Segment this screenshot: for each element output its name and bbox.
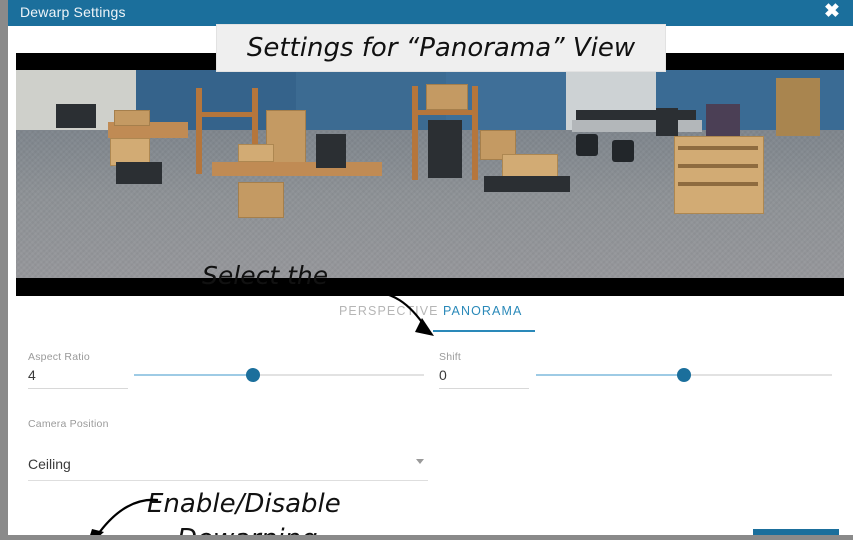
slider-fill [134, 374, 253, 376]
aspect-ratio-input[interactable] [28, 367, 128, 389]
save-button[interactable]: SAVE [753, 529, 839, 535]
window-titlebar: Dewarp Settings ✖ [8, 0, 853, 26]
page-title: Dewarp Settings [20, 4, 126, 20]
scene-wall [296, 70, 446, 132]
camera-position-value: Ceiling [28, 456, 71, 472]
scene-object [196, 88, 202, 174]
scene-object [776, 78, 820, 136]
shift-label: Shift [439, 351, 461, 363]
close-icon[interactable]: ✖ [821, 1, 843, 23]
callout-arrow-to-enable [80, 496, 160, 535]
slider-thumb[interactable] [246, 368, 260, 382]
aspect-ratio-label: Aspect Ratio [28, 351, 90, 363]
scene-object [678, 146, 758, 150]
scene-object [572, 120, 702, 132]
window-content: Select the “Panorama” Tab PERSPECTIVE PA… [8, 26, 853, 535]
tab-panorama[interactable]: PANORAMA [443, 304, 522, 328]
scene-object [576, 134, 598, 156]
camera-position-label: Camera Position [28, 418, 109, 430]
scene-object [238, 182, 284, 218]
scene-object [196, 112, 258, 117]
scene-object [116, 162, 162, 184]
slider-thumb[interactable] [677, 368, 691, 382]
scene-object [612, 140, 634, 162]
scene-object [412, 86, 418, 180]
shift-input[interactable] [439, 367, 529, 389]
camera-position-select[interactable]: Ceiling [28, 456, 428, 481]
callout-enable-line1: Enable/Disable [147, 489, 341, 519]
aspect-ratio-slider[interactable] [134, 366, 424, 384]
video-letterbox-bottom [16, 278, 844, 296]
panorama-video-preview[interactable]: Select the “Panorama” Tab [16, 53, 844, 296]
scene-object [678, 182, 758, 186]
view-mode-tabs: PERSPECTIVE PANORAMA [8, 304, 853, 344]
chevron-down-icon [416, 459, 424, 464]
cancel-button[interactable]: CANCEL [659, 533, 740, 535]
scene-object [472, 86, 478, 180]
callout-select-line1: Select the [202, 261, 328, 290]
dewarp-settings-window: Dewarp Settings ✖ [8, 0, 853, 535]
scene-object [412, 110, 478, 115]
scene-object [428, 120, 462, 178]
scene-object [484, 176, 570, 192]
tab-perspective[interactable]: PERSPECTIVE [339, 304, 439, 328]
slider-fill [536, 374, 684, 376]
scene-object [114, 110, 150, 126]
callout-enable-line2: Dewarping [177, 524, 318, 535]
scene-object [656, 108, 678, 136]
scene-object [576, 110, 696, 120]
scene-object [316, 134, 346, 168]
scene-object [238, 144, 274, 162]
callout-title-box: Settings for “Panorama” View [216, 24, 666, 72]
shift-slider[interactable] [536, 366, 832, 384]
scene-object [678, 164, 758, 168]
callout-title-text: Settings for “Panorama” View [247, 33, 635, 63]
scene-object [212, 162, 382, 176]
scene-object [426, 84, 468, 110]
video-scene [16, 70, 844, 278]
tab-active-underline [433, 330, 535, 332]
scene-object [56, 104, 96, 128]
